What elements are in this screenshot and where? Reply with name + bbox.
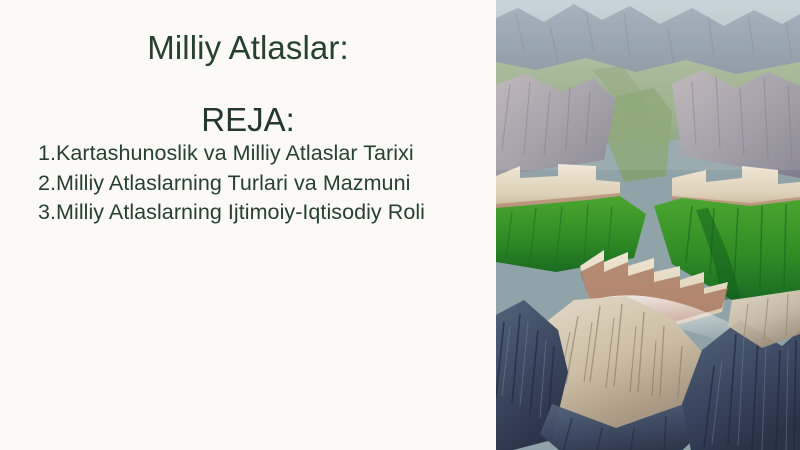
text-panel: Milliy Atlaslar: REJA: 1.Kartashunoslik … [0, 0, 496, 450]
terrain-relief-image [496, 0, 800, 450]
list-item: 2.Milliy Atlaslarning Turlari va Mazmuni [38, 169, 468, 199]
list-item: 1.Kartashunoslik va Milliy Atlaslar Tari… [38, 139, 468, 169]
agenda-heading: REJA: [0, 100, 496, 140]
presentation-slide: Milliy Atlaslar: REJA: 1.Kartashunoslik … [0, 0, 800, 450]
list-item: 3.Milliy Atlaslarning Ijtimoiy-Iqtisodiy… [38, 198, 468, 228]
terrain-illustration [496, 0, 800, 450]
page-title: Milliy Atlaslar: [0, 28, 496, 68]
agenda-list: 1.Kartashunoslik va Milliy Atlaslar Tari… [38, 139, 468, 228]
